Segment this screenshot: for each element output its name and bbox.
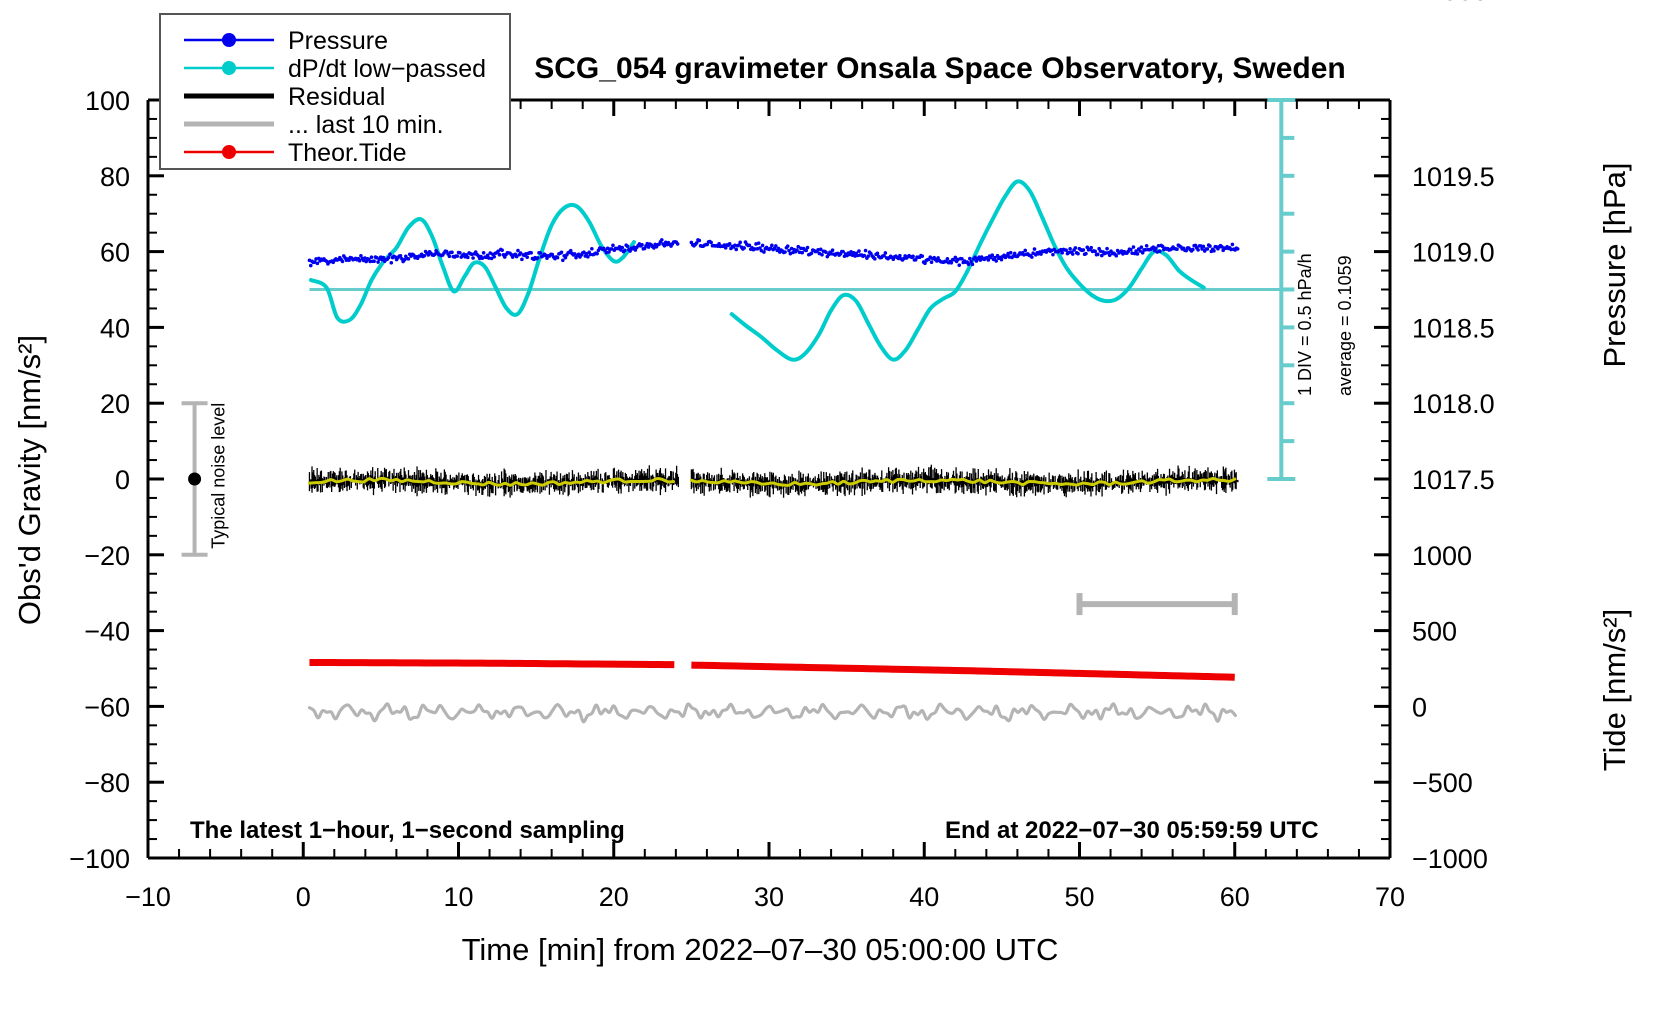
scale-bar-label-average: average = 0.1059 <box>1335 255 1355 396</box>
x-tick-label: 50 <box>1064 882 1094 912</box>
pressure-tick-label: 1019.5 <box>1412 162 1495 192</box>
footer-right-note: End at 2022−07−30 05:59:59 UTC <box>945 817 1319 844</box>
x-tick-label: 10 <box>443 882 473 912</box>
y-axis-label: Obs'd Gravity [nm/s²] <box>12 335 47 625</box>
x-tick-label: 20 <box>599 882 629 912</box>
legend-label: Residual <box>288 83 385 111</box>
x-tick-label: 70 <box>1375 882 1405 912</box>
pressure-tick-label: 1018.0 <box>1412 389 1495 419</box>
y-tick-label: 40 <box>100 313 130 343</box>
pressure-tick-label: 1017.5 <box>1412 465 1495 495</box>
tide-axis-label: Tide [nm/s²] <box>1597 609 1632 772</box>
page-title: SCG_054 gravimeter Onsala Space Observat… <box>534 52 1346 85</box>
y-tick-label: −100 <box>69 844 130 874</box>
y-tick-label: 100 <box>85 86 130 116</box>
pressure-tick-label: 1019.0 <box>1412 238 1495 268</box>
chart-legend: PressuredP/dt low−passedResidual... last… <box>160 14 510 169</box>
footer-left-note: The latest 1−hour, 1−second sampling <box>190 817 625 844</box>
y-tick-label: −20 <box>84 541 130 571</box>
y-tick-label: 20 <box>100 389 130 419</box>
y-tick-label: −80 <box>84 768 130 798</box>
tide-tick-label: −1000 <box>1412 844 1488 874</box>
y-tick-label: −60 <box>84 692 130 722</box>
x-tick-label: 0 <box>296 882 311 912</box>
x-tick-label: 30 <box>754 882 784 912</box>
gravimeter-chart: −10010203040506070 100806040200−20−40−60… <box>0 0 1660 1020</box>
legend-label: Theor.Tide <box>288 139 407 167</box>
y-tick-label: 0 <box>115 465 130 495</box>
tide-tick-label: 500 <box>1412 617 1457 647</box>
legend-label: ... last 10 min. <box>288 111 444 139</box>
pressure-axis-label: Pressure [hPa] <box>1597 162 1632 367</box>
x-tick-label: 40 <box>909 882 939 912</box>
y-tick-label: −40 <box>84 617 130 647</box>
pressure-tick-label: 1018.5 <box>1412 313 1495 343</box>
x-tick-label: 60 <box>1220 882 1250 912</box>
y-tick-label: 80 <box>100 162 130 192</box>
legend-label: Pressure <box>288 27 388 55</box>
scale-bar-label-div: 1 DIV = 0.5 hPa/h <box>1295 253 1315 396</box>
legend-label: dP/dt low−passed <box>288 55 486 83</box>
x-tick-label: −10 <box>125 882 171 912</box>
tide-tick-label: −1500 <box>1412 0 1488 6</box>
tide-tick-label: 0 <box>1412 692 1427 722</box>
gravimeter-plot-page: −10010203040506070 100806040200−20−40−60… <box>0 0 1660 1020</box>
x-axis-label: Time [min] from 2022–07–30 05:00:00 UTC <box>462 932 1059 967</box>
series-theor-tide-seg0 <box>309 662 674 664</box>
tide-tick-label: −500 <box>1412 768 1473 798</box>
y-tick-label: 60 <box>100 238 130 268</box>
tide-tick-label: 1000 <box>1412 541 1472 571</box>
typical-noise-label: Typical noise level <box>209 403 229 549</box>
